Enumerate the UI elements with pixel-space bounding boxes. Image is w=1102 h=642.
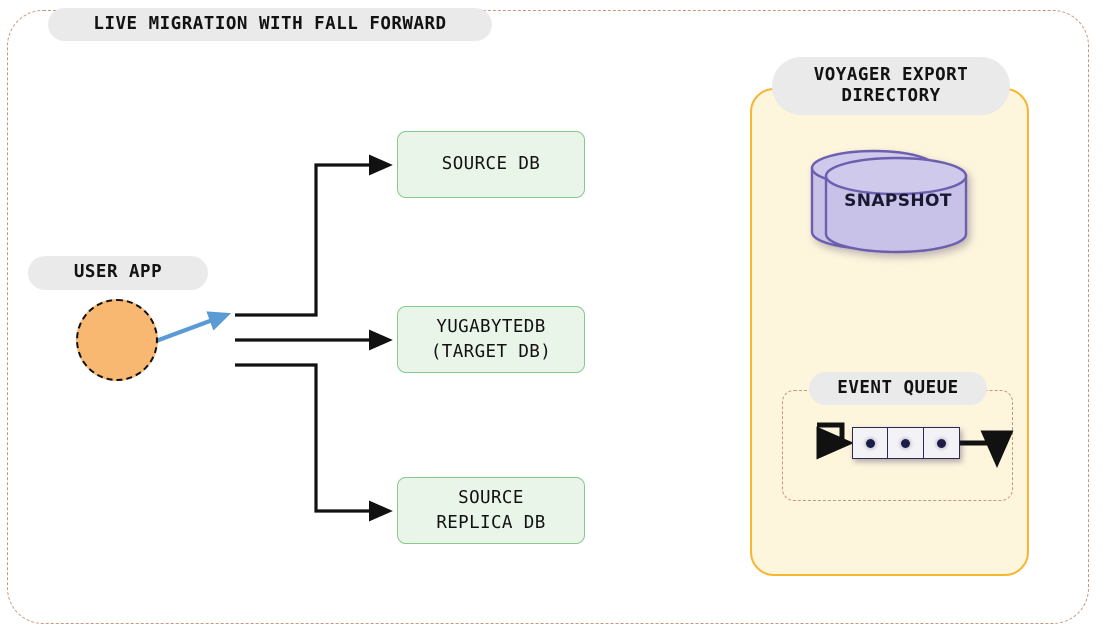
event-dot-icon [866, 439, 875, 448]
event-dot-icon [901, 439, 910, 448]
event-queue-cell[interactable] [852, 427, 888, 459]
voyager-label-line-2: DIRECTORY [841, 86, 940, 107]
page-title: LIVE MIGRATION WITH FALL FORWARD [48, 8, 492, 41]
snapshot-cylinder[interactable]: SNAPSHOT [808, 148, 988, 254]
user-app-label: USER APP [28, 256, 208, 290]
event-queue-cell[interactable] [924, 427, 960, 459]
source-db-box[interactable]: SOURCE DB [397, 131, 585, 198]
event-queue-cell[interactable] [888, 427, 924, 459]
user-app-node[interactable] [76, 299, 158, 381]
event-queue-cells [852, 427, 960, 459]
diagram-canvas: LIVE MIGRATION WITH FALL FORWARD USER AP… [0, 0, 1102, 642]
voyager-export-directory-label: VOYAGER EXPORT DIRECTORY [772, 57, 1010, 115]
voyager-label-line-1: VOYAGER EXPORT [814, 65, 969, 86]
event-dot-icon [937, 439, 946, 448]
cylinder-icon [808, 148, 988, 254]
event-queue-label: EVENT QUEUE [809, 372, 987, 405]
yugabytedb-target-db-box[interactable]: YUGABYTEDB (TARGET DB) [397, 306, 585, 373]
source-replica-db-box[interactable]: SOURCE REPLICA DB [397, 477, 585, 544]
